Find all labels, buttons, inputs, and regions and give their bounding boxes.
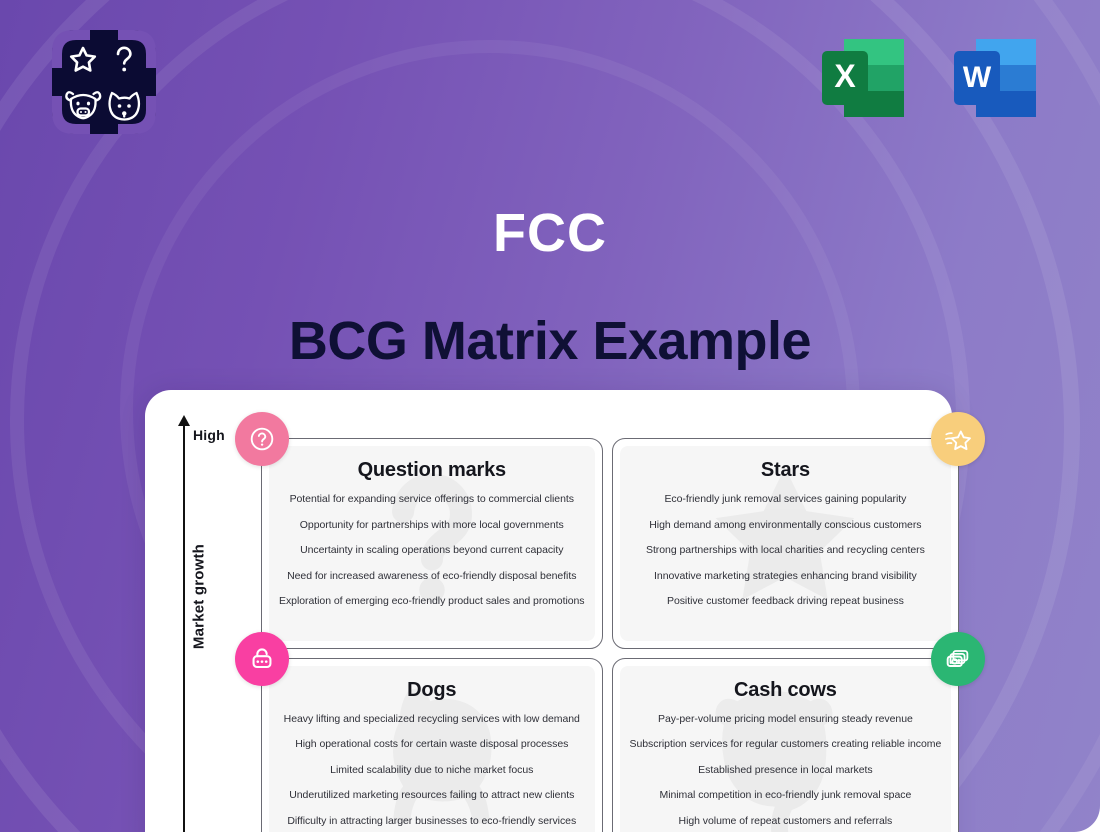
quadrant-question-marks[interactable]: Question marks Potential for expanding s… — [261, 438, 603, 649]
quadrant-title: Cash cows — [734, 679, 837, 702]
list-item: Exploration of emerging eco-friendly pro… — [279, 595, 585, 608]
quadrant-grid: Question marks Potential for expanding s… — [261, 438, 929, 832]
quadrant-stars[interactable]: Stars Eco-friendly junk removal services… — [612, 438, 960, 649]
page-title: BCG Matrix Example — [0, 312, 1100, 371]
bcg-matrix-card: High Market growth Question m — [145, 390, 952, 832]
svg-text:W: W — [963, 61, 992, 94]
list-item: Potential for expanding service offering… — [279, 493, 585, 506]
money-badge-icon — [931, 632, 985, 686]
star-badge-icon — [931, 412, 985, 466]
list-item: Heavy lifting and specialized recycling … — [279, 713, 585, 726]
quadrant-item-list: Heavy lifting and specialized recycling … — [279, 713, 585, 832]
list-item: Innovative marketing strategies enhancin… — [630, 570, 942, 583]
list-item: Uncertainty in scaling operations beyond… — [279, 544, 585, 557]
y-axis-label: Market growth — [191, 527, 208, 667]
list-item: Minimal competition in eco-friendly junk… — [630, 789, 942, 802]
list-item: Established presence in local markets — [630, 764, 942, 777]
brand-title: FCC — [0, 206, 1100, 260]
quadrant-body: Stars Eco-friendly junk removal services… — [620, 446, 952, 641]
quadrant-body: Cash cows Pay-per-volume pricing model e… — [620, 666, 952, 832]
quadrant-item-list: Pay-per-volume pricing model ensuring st… — [630, 713, 942, 832]
slide-canvas: X W FCC BCG Matrix Example High Market g… — [0, 0, 1100, 832]
axis-high-label: High — [193, 427, 225, 443]
dog-badge-icon — [235, 632, 289, 686]
list-item: Difficulty in attracting larger business… — [279, 815, 585, 828]
quadrant-cash-cows[interactable]: Cash cows Pay-per-volume pricing model e… — [612, 658, 960, 832]
quadrant-body: Dogs Heavy lifting and specialized recyc… — [269, 666, 595, 832]
question-mark-badge-icon — [235, 412, 289, 466]
list-item: Opportunity for partnerships with more l… — [279, 519, 585, 532]
bcg-quadrant-logo-icon — [50, 28, 158, 136]
quadrant-item-list: Potential for expanding service offering… — [279, 493, 585, 621]
quadrant-title: Question marks — [358, 459, 506, 482]
quadrant-title: Stars — [761, 459, 810, 482]
quadrant-dogs[interactable]: Dogs Heavy lifting and specialized recyc… — [261, 658, 603, 832]
y-axis-line — [183, 422, 185, 832]
list-item: High operational costs for certain waste… — [279, 738, 585, 751]
list-item: Need for increased awareness of eco-frie… — [279, 570, 585, 583]
list-item: Pay-per-volume pricing model ensuring st… — [630, 713, 942, 726]
quadrant-title: Dogs — [407, 679, 456, 702]
svg-text:X: X — [834, 58, 856, 94]
quadrant-body: Question marks Potential for expanding s… — [269, 446, 595, 641]
excel-icon: X — [812, 26, 916, 130]
list-item: Limited scalability due to niche market … — [279, 764, 585, 777]
list-item: Subscription services for regular custom… — [630, 738, 942, 751]
list-item: Underutilized marketing resources failin… — [279, 789, 585, 802]
list-item: Positive customer feedback driving repea… — [630, 595, 942, 608]
office-app-icons: X W — [812, 26, 1048, 130]
word-icon: W — [944, 26, 1048, 130]
list-item: High demand among environmentally consci… — [630, 519, 942, 532]
list-item: Eco-friendly junk removal services gaini… — [630, 493, 942, 506]
quadrant-item-list: Eco-friendly junk removal services gaini… — [630, 493, 942, 621]
list-item: High volume of repeat customers and refe… — [630, 815, 942, 828]
list-item: Strong partnerships with local charities… — [630, 544, 942, 557]
